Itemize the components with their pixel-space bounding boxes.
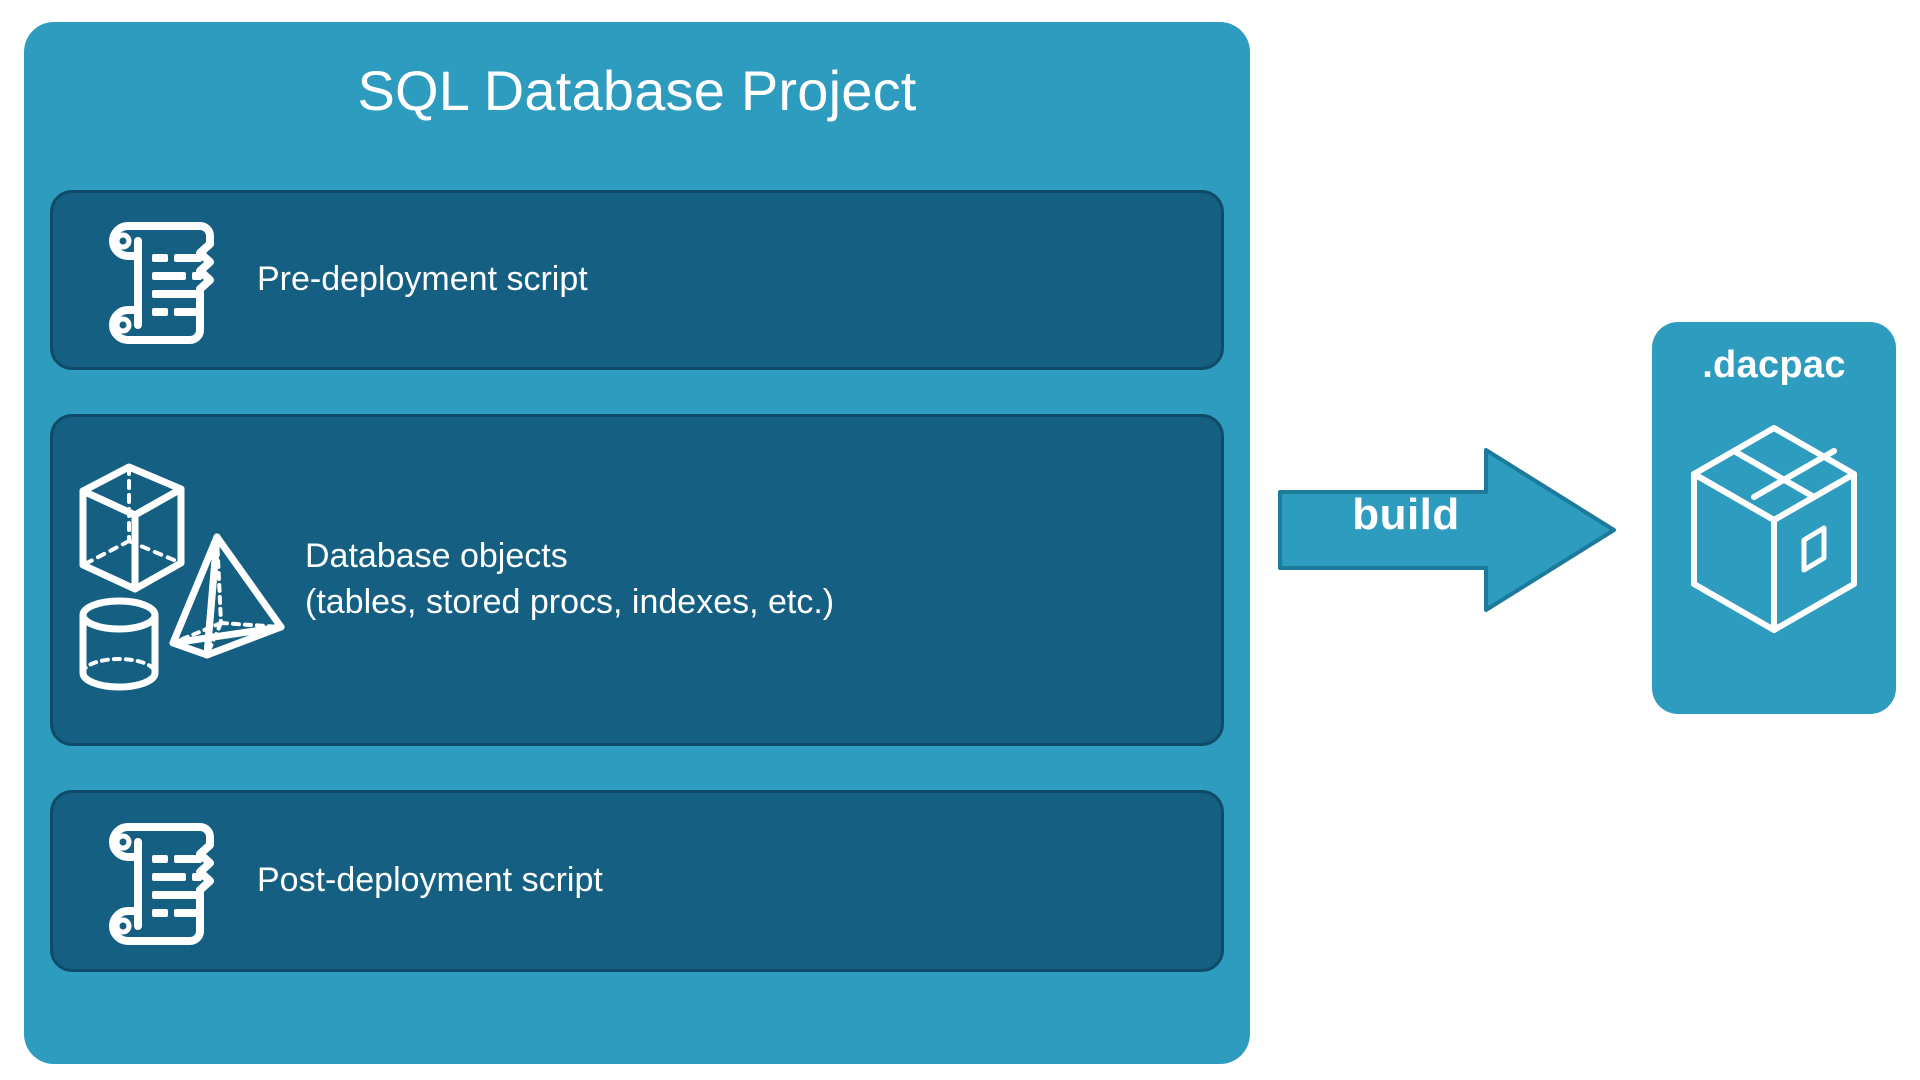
card-database-objects-label: Database objects (tables, stored procs, … [305, 534, 834, 625]
card-post-deployment-label: Post-deployment script [257, 858, 603, 904]
card-database-objects[interactable]: Database objects (tables, stored procs, … [50, 414, 1224, 746]
dacpac-output-container: .dacpac [1652, 322, 1896, 714]
card-database-objects-label-line2: (tables, stored procs, indexes, etc.) [305, 580, 834, 626]
card-pre-deployment-script[interactable]: Pre-deployment script [50, 190, 1224, 370]
card-post-deployment-script[interactable]: Post-deployment script [50, 790, 1224, 972]
shapes-3d-icon [67, 455, 297, 705]
package-box-icon [1683, 418, 1865, 653]
dacpac-title: .dacpac [1652, 344, 1896, 387]
card-pre-deployment-label: Pre-deployment script [257, 257, 588, 303]
diagram-canvas: SQL Database Project [0, 0, 1920, 1080]
project-title: SQL Database Project [24, 60, 1250, 122]
build-arrow-label: build [1316, 490, 1496, 540]
scroll-icon [71, 210, 241, 350]
scroll-icon [71, 811, 241, 951]
card-database-objects-label-line1: Database objects [305, 534, 834, 580]
sql-database-project-container: SQL Database Project [24, 22, 1250, 1064]
